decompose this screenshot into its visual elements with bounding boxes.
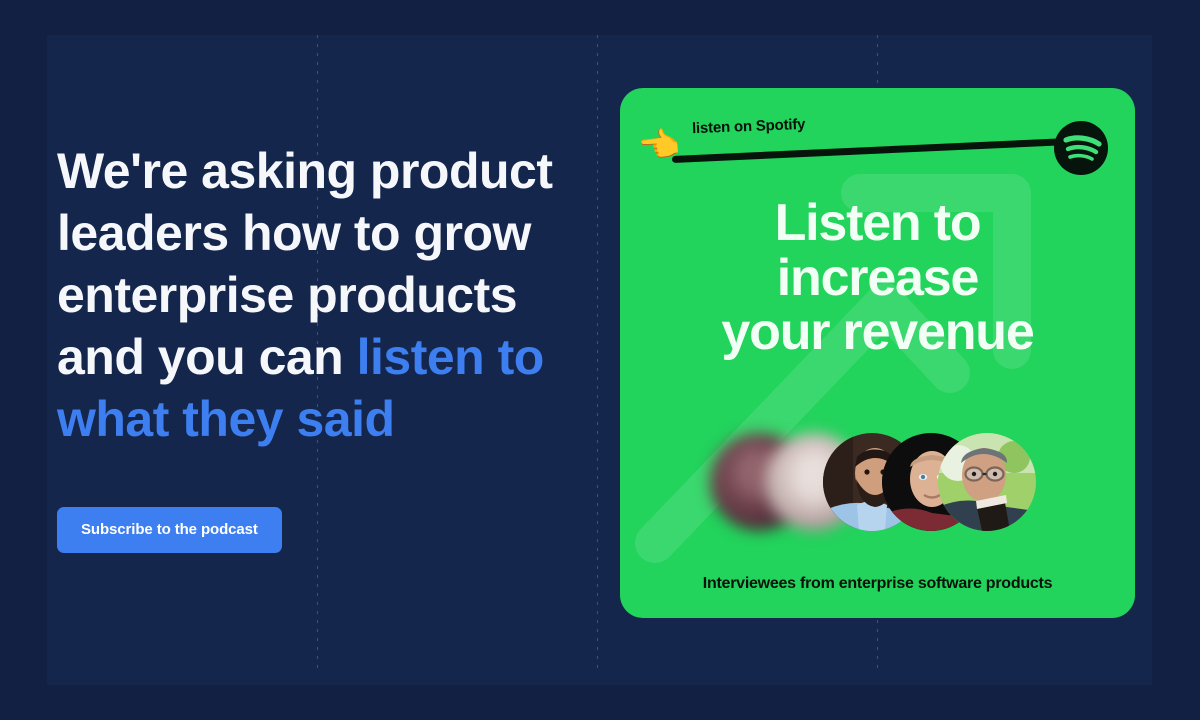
card-heading: Listen to increase your revenue — [620, 196, 1135, 360]
interviewee-avatar-strip — [620, 433, 1135, 538]
spotify-logo-icon[interactable] — [1054, 121, 1108, 175]
spotify-connector-line — [672, 137, 1084, 163]
hero-text-column: We're asking product leaders how to grow… — [57, 140, 587, 553]
page-root: We're asking product leaders how to grow… — [0, 0, 1200, 720]
subscribe-to-podcast-button[interactable]: Subscribe to the podcast — [57, 507, 282, 553]
card-heading-line-3: your revenue — [620, 305, 1135, 360]
page-title: We're asking product leaders how to grow… — [57, 140, 587, 450]
card-heading-line-2: increase — [620, 251, 1135, 306]
listen-on-spotify-row[interactable]: 👈 listen on Spotify — [620, 88, 1135, 208]
podcast-promo-card[interactable]: 👈 listen on Spotify Listen to increase y… — [620, 88, 1135, 618]
card-caption: Interviewees from enterprise software pr… — [620, 575, 1135, 593]
avatar-glasses-man-with-cup — [938, 433, 1036, 531]
column-guide-2 — [597, 35, 598, 672]
card-heading-line-1: Listen to — [620, 196, 1135, 251]
listen-on-spotify-label: listen on Spotify — [692, 116, 806, 137]
